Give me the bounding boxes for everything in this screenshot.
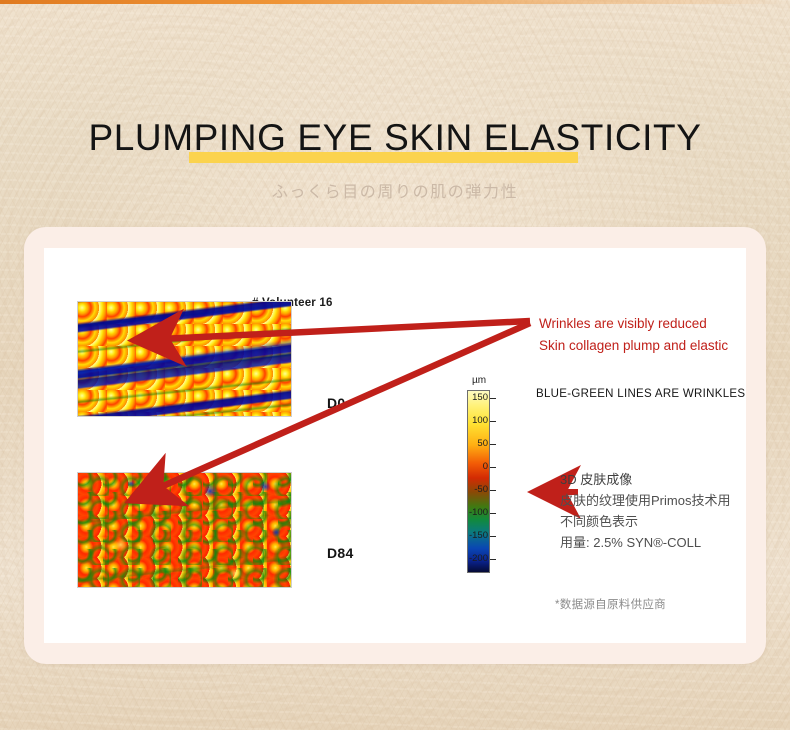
page-title: PLUMPING EYE SKIN ELASTICITY xyxy=(88,112,701,164)
colorbar-tick-m200: -200 xyxy=(469,553,488,564)
cn-line-4: 用量: 2.5% SYN®-COLL xyxy=(560,532,730,553)
colorbar-tick-100: 100 xyxy=(472,415,488,426)
title-wrapper: PLUMPING EYE SKIN ELASTICITY xyxy=(88,112,701,164)
content-card: # Volunteer 16 D0 D84 µm 150 100 50 0 -5… xyxy=(24,227,766,664)
skin-image-d0 xyxy=(77,301,292,417)
colorbar-unit-label: µm xyxy=(472,375,486,386)
skin-texture-d84 xyxy=(78,473,291,587)
heading-block: PLUMPING EYE SKIN ELASTICITY ふっくら目の周りの肌の… xyxy=(0,112,790,202)
colorbar-tick-50: 50 xyxy=(477,438,488,449)
day-label-d0: D0 xyxy=(327,395,346,411)
skin-image-d84 xyxy=(77,472,292,588)
top-accent-strip xyxy=(0,0,790,4)
colorbar-tick-m100: -100 xyxy=(469,507,488,518)
colorbar-tick-150: 150 xyxy=(472,392,488,403)
annotation-chinese-block: 3D 皮肤成像 皮肤的纹理使用Primos技术用 不同颜色表示 用量: 2.5%… xyxy=(560,469,730,553)
skin-texture-d0 xyxy=(78,302,291,416)
figure-panel: # Volunteer 16 D0 D84 µm 150 100 50 0 -5… xyxy=(44,248,746,643)
page-subtitle: ふっくら目の周りの肌の弾力性 xyxy=(0,178,790,202)
annotation-caption: BLUE-GREEN LINES ARE WRINKLES xyxy=(536,388,745,400)
colorbar-group: µm 150 100 50 0 -50 -100 -150 -200 xyxy=(436,375,528,575)
annotation-red-line-1: Wrinkles are visibly reduced xyxy=(539,313,728,335)
day-label-d84: D84 xyxy=(327,545,354,561)
cn-line-3: 不同颜色表示 xyxy=(560,511,730,532)
colorbar-tick-0: 0 xyxy=(483,461,488,472)
cn-line-2: 皮肤的纹理使用Primos技术用 xyxy=(560,490,730,511)
annotation-red-line-2: Skin collagen plump and elastic xyxy=(539,335,728,357)
colorbar-tick-m150: -150 xyxy=(469,530,488,541)
cn-line-1: 3D 皮肤成像 xyxy=(560,469,730,490)
annotation-footnote: *数据源自原料供应商 xyxy=(555,596,666,612)
annotation-red-text: Wrinkles are visibly reduced Skin collag… xyxy=(539,313,728,357)
colorbar-tick-m50: -50 xyxy=(474,484,488,495)
